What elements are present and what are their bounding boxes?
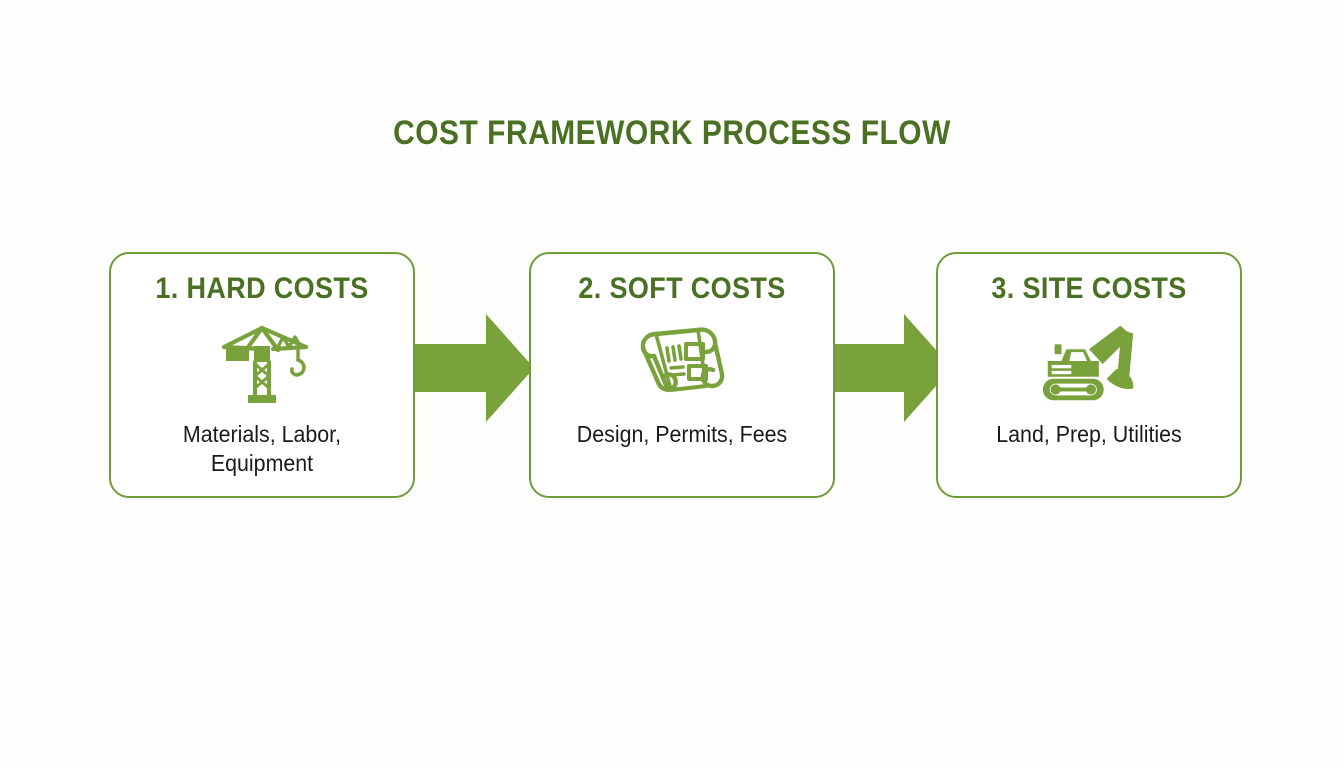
tower-crane-icon [207,316,317,408]
step-1-description: Materials, Labor, Equipment [135,420,390,478]
diagram-canvas: COST FRAMEWORK PROCESS FLOW 1. HARD COST… [0,0,1344,768]
step-2-description: Design, Permits, Fees [555,420,810,449]
step-2-title: 2. SOFT COSTS [546,271,818,307]
process-step-card-1[interactable]: 1. HARD COSTS [109,252,415,498]
step-3-title: 3. SITE COSTS [953,271,1225,307]
process-step-card-3[interactable]: 3. SITE COSTS [936,252,1242,498]
excavator-icon [1034,316,1144,408]
step-1-title: 1. HARD COSTS [126,271,398,307]
page-title: COST FRAMEWORK PROCESS FLOW [81,112,1264,154]
arrow-step1-to-step2-icon [414,308,536,428]
process-step-card-2[interactable]: 2. SOFT COSTS [529,252,835,498]
process-flow-row: 1. HARD COSTS [0,252,1344,498]
step-3-description: Land, Prep, Utilities [962,420,1217,449]
blueprint-scroll-icon [627,316,737,408]
